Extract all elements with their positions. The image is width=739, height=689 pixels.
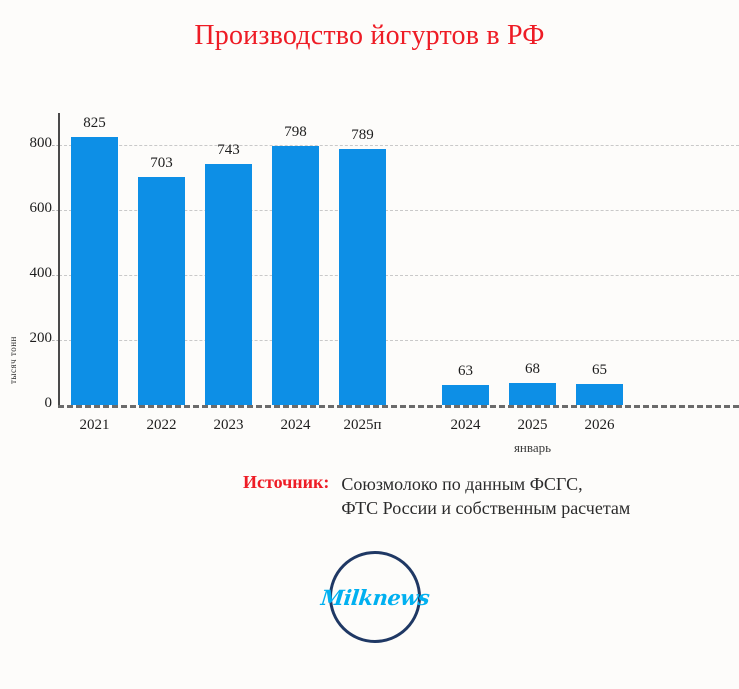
bar-value-label: 63 — [436, 363, 496, 380]
bar-value-label: 743 — [199, 142, 259, 159]
source-line-2: ФТС России и собственным расчетам — [341, 498, 630, 518]
bar[interactable] — [138, 177, 185, 405]
bar[interactable] — [71, 137, 118, 405]
bar-value-label: 798 — [266, 124, 326, 141]
bar-value-label: 68 — [503, 361, 563, 378]
source-note: Источник: Союзмолоко по данным ФСГС, ФТС… — [243, 472, 739, 520]
bar[interactable] — [509, 383, 556, 405]
bar[interactable] — [576, 384, 623, 405]
x-axis-tick-label: 2025п — [328, 417, 398, 434]
x-axis-tick-label: 2024 — [431, 417, 501, 434]
page-title: Производство йогуртов в РФ — [0, 20, 739, 52]
bar[interactable] — [339, 149, 386, 405]
source-text: Союзмолоко по данным ФСГС, ФТС России и … — [341, 472, 630, 520]
x-axis-group-label: январь — [498, 440, 568, 456]
bar[interactable] — [205, 164, 252, 405]
bar-series: 82520217032022743202379820247892025п6320… — [0, 95, 739, 465]
x-axis-tick-label: 2021 — [60, 417, 130, 434]
bar-value-label: 789 — [333, 127, 393, 144]
bar[interactable] — [442, 385, 489, 405]
bar[interactable] — [272, 146, 319, 405]
x-axis-tick-label: 2025 — [498, 417, 568, 434]
bar-value-label: 65 — [570, 362, 630, 379]
x-axis-tick-label: 2023 — [194, 417, 264, 434]
bar-value-label: 825 — [65, 115, 125, 132]
bar-chart: тысяч тонн 0200400600800 825202170320227… — [0, 95, 739, 465]
x-axis-tick-label: 2026 — [565, 417, 635, 434]
logo-text: Milknews — [320, 585, 431, 610]
source-label: Источник: — [243, 472, 329, 493]
x-axis-tick-label: 2022 — [127, 417, 197, 434]
milknews-logo: Milknews — [329, 551, 421, 643]
bar-value-label: 703 — [132, 155, 192, 172]
x-axis-tick-label: 2024 — [261, 417, 331, 434]
source-line-1: Союзмолоко по данным ФСГС, — [341, 474, 582, 494]
